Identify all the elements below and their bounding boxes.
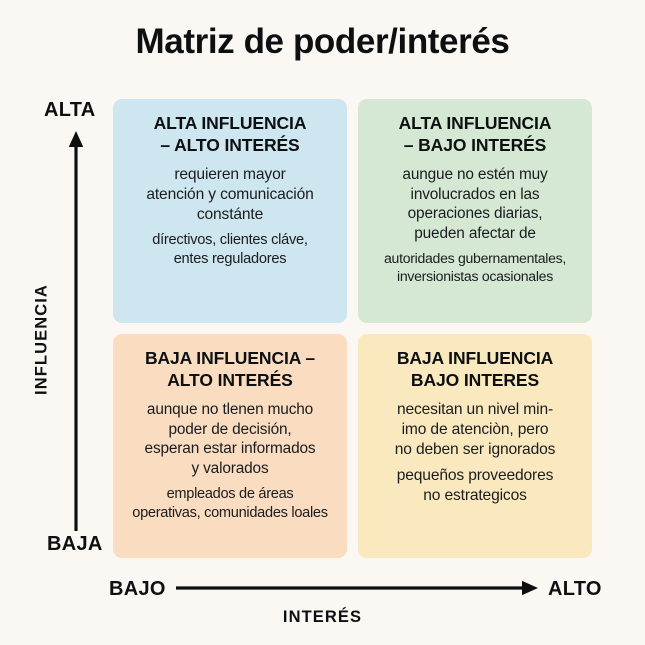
quadrant-examples: autoridades gubernamentales, inversionis… <box>384 250 566 286</box>
arrow-up-icon <box>69 131 83 531</box>
y-axis-low-label: BAJA <box>47 533 103 556</box>
quadrant-description: aungue no estén muy involucrados en las … <box>402 165 547 243</box>
quadrant-heading: BAJA INFLUENCIA BAJO INTERES <box>397 347 553 391</box>
quadrant-high-influence-low-interest[interactable]: ALTA INFLUENCIA – BAJO INTERÉS aungue no… <box>358 99 592 323</box>
x-axis-low-label: BAJO <box>109 578 166 601</box>
power-interest-matrix: ALTA INFLUENCIA – ALTO INTERÉS requieren… <box>113 99 592 558</box>
y-axis-title: INFLUENCIA <box>33 270 52 410</box>
y-axis-high-label: ALTA <box>44 99 96 122</box>
quadrant-examples: empleados de áreas operativas, comunidad… <box>132 485 327 522</box>
page-title: Matriz de poder/interés <box>0 22 645 62</box>
quadrant-high-influence-high-interest[interactable]: ALTA INFLUENCIA – ALTO INTERÉS requieren… <box>113 99 347 323</box>
quadrant-low-influence-high-interest[interactable]: BAJA INFLUENCIA – ALTO INTERÉS aunque no… <box>113 334 347 558</box>
quadrant-heading: ALTA INFLUENCIA – BAJO INTERÉS <box>399 112 552 156</box>
quadrant-heading: BAJA INFLUENCIA – ALTO INTERÉS <box>145 347 315 391</box>
x-axis-high-label: ALTO <box>548 578 602 601</box>
quadrant-examples: dírectivos, clientes cláve, entes regula… <box>152 231 307 268</box>
arrow-right-icon <box>176 581 538 595</box>
quadrant-low-influence-low-interest[interactable]: BAJA INFLUENCIA BAJO INTERES necesitan u… <box>358 334 592 558</box>
quadrant-description: requieren mayor atención y comunicación … <box>146 165 313 224</box>
quadrant-heading: ALTA INFLUENCIA – ALTO INTERÉS <box>154 112 307 156</box>
quadrant-description: aunque no tlenen mucho poder de decisión… <box>145 400 316 478</box>
quadrant-description: necesitan un nivel min- imo de atenciòn,… <box>395 400 556 459</box>
quadrant-examples: pequeños proveedores no estrategicos <box>397 466 554 506</box>
x-axis-title: INTERÉS <box>0 608 645 627</box>
